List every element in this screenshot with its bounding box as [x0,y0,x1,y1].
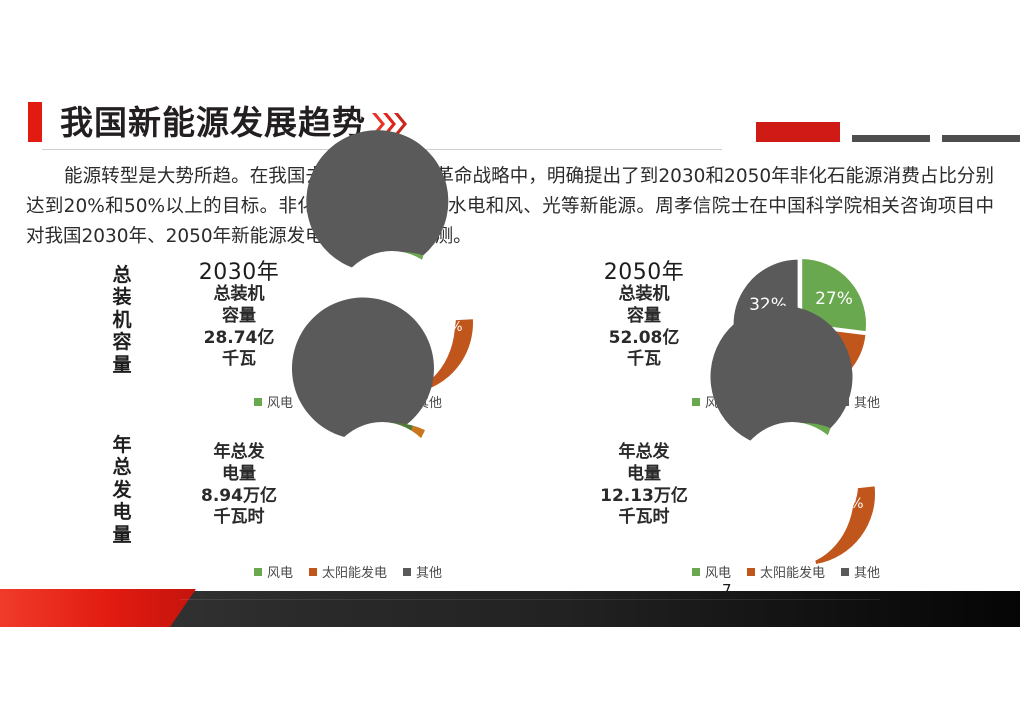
slide-footer: 7 [0,587,1020,629]
year-heading-2030: 2030年 [174,254,304,286]
reveal-mask-2 [332,436,444,536]
row-label-char: 量 [105,354,139,376]
legend-2050-energy: 风电 太阳能发电 其他 [692,562,880,581]
value-line: 千瓦时 [579,507,709,529]
legend-swatch-solar [309,568,317,576]
value-line: 12.13万亿 [579,486,709,508]
value-line: 容量 [174,306,304,328]
row-label-annual-generation: 年 总 发 电 量 [105,434,139,546]
value-line: 52.08亿 [579,328,709,350]
header-block-red [756,122,840,142]
value-line: 电量 [579,464,709,486]
pie-label-wind: 27% [815,289,853,309]
row-label-char: 容 [105,331,139,353]
header-decoration-blocks [756,122,1020,142]
value-block-2050-energy: 年总发 电量 12.13万亿 千瓦时 [579,442,709,529]
reveal-mask-2 [742,436,858,536]
legend-item-wind[interactable]: 风电 [254,562,293,581]
year-heading-2050: 2050年 [579,254,709,286]
header-block-gray-2 [942,135,1020,142]
legend-item-wind[interactable]: 风电 [692,562,731,581]
legend-label: 风电 [267,392,293,411]
value-line: 总装机 [579,284,709,306]
value-line: 总装机 [174,284,304,306]
value-line: 千瓦 [174,349,304,371]
body-paragraph: 能源转型是大势所趋。在我国去年发布的能源革命战略中，明确提出了到2030和205… [26,162,994,252]
row-label-char: 量 [105,524,139,546]
value-line: 年总发 [579,442,709,464]
legend-swatch-wind [692,398,700,406]
legend-label: 太阳能发电 [760,562,825,581]
row-label-char: 年 [105,434,139,456]
legend-swatch-wind [692,568,700,576]
row-label-char: 总 [105,264,139,286]
value-line: 28.74亿 [174,328,304,350]
legend-2030-energy: 风电 太阳能发电 其他 [254,562,442,581]
row-label-char: 总 [105,456,139,478]
legend-item-solar[interactable]: 太阳能发电 [747,562,825,581]
legend-label: 太阳能发电 [322,562,387,581]
value-block-2030-capacity: 总装机 容量 28.74亿 千瓦 [174,284,304,371]
page-number: 7 [722,581,732,599]
legend-swatch-solar [747,568,755,576]
value-line: 容量 [579,306,709,328]
value-line: 电量 [174,464,304,486]
row-label-total-installed-capacity: 总 装 机 容 量 [105,264,139,376]
value-line: 8.94万亿 [174,486,304,508]
value-line: 千瓦 [579,349,709,371]
footer-red-shape [0,589,200,627]
legend-item-other[interactable]: 其他 [403,562,442,581]
legend-item-wind[interactable]: 风电 [254,392,293,411]
value-line: 千瓦时 [174,507,304,529]
row-label-char: 机 [105,309,139,331]
slide-content: 我国新能源发展趋势 能源转型是大势所趋。在我国去年发布的能源革命战略中，明确提出… [0,0,1020,711]
page-title: 我国新能源发展趋势 [60,106,366,139]
title-accent-bar [28,102,42,142]
legend-label: 风电 [267,562,293,581]
legend-label: 其他 [854,392,880,411]
legend-swatch-wind [254,568,262,576]
pie-chart-2030-energy [305,418,483,570]
value-block-2050-capacity: 总装机 容量 52.08亿 千瓦 [579,284,709,371]
header-block-gray-1 [852,135,930,142]
row-label-char: 电 [105,501,139,523]
value-line: 年总发 [174,442,304,464]
footer-hairline [180,599,880,600]
legend-item-solar[interactable]: 太阳能发电 [309,562,387,581]
legend-item-other[interactable]: 其他 [841,562,880,581]
legend-swatch-other [841,568,849,576]
row-label-char: 发 [105,479,139,501]
pie-chart-2050-energy: 27% [715,418,893,570]
row-label-char: 装 [105,286,139,308]
legend-swatch-other [403,568,411,576]
legend-label: 风电 [705,562,731,581]
value-block-2030-energy: 年总发 电量 8.94万亿 千瓦时 [174,442,304,529]
legend-label: 其他 [854,562,880,581]
legend-label: 其他 [416,562,442,581]
legend-swatch-wind [254,398,262,406]
presentation-slide: 我国新能源发展趋势 能源转型是大势所趋。在我国去年发布的能源革命战略中，明确提出… [0,0,1020,711]
